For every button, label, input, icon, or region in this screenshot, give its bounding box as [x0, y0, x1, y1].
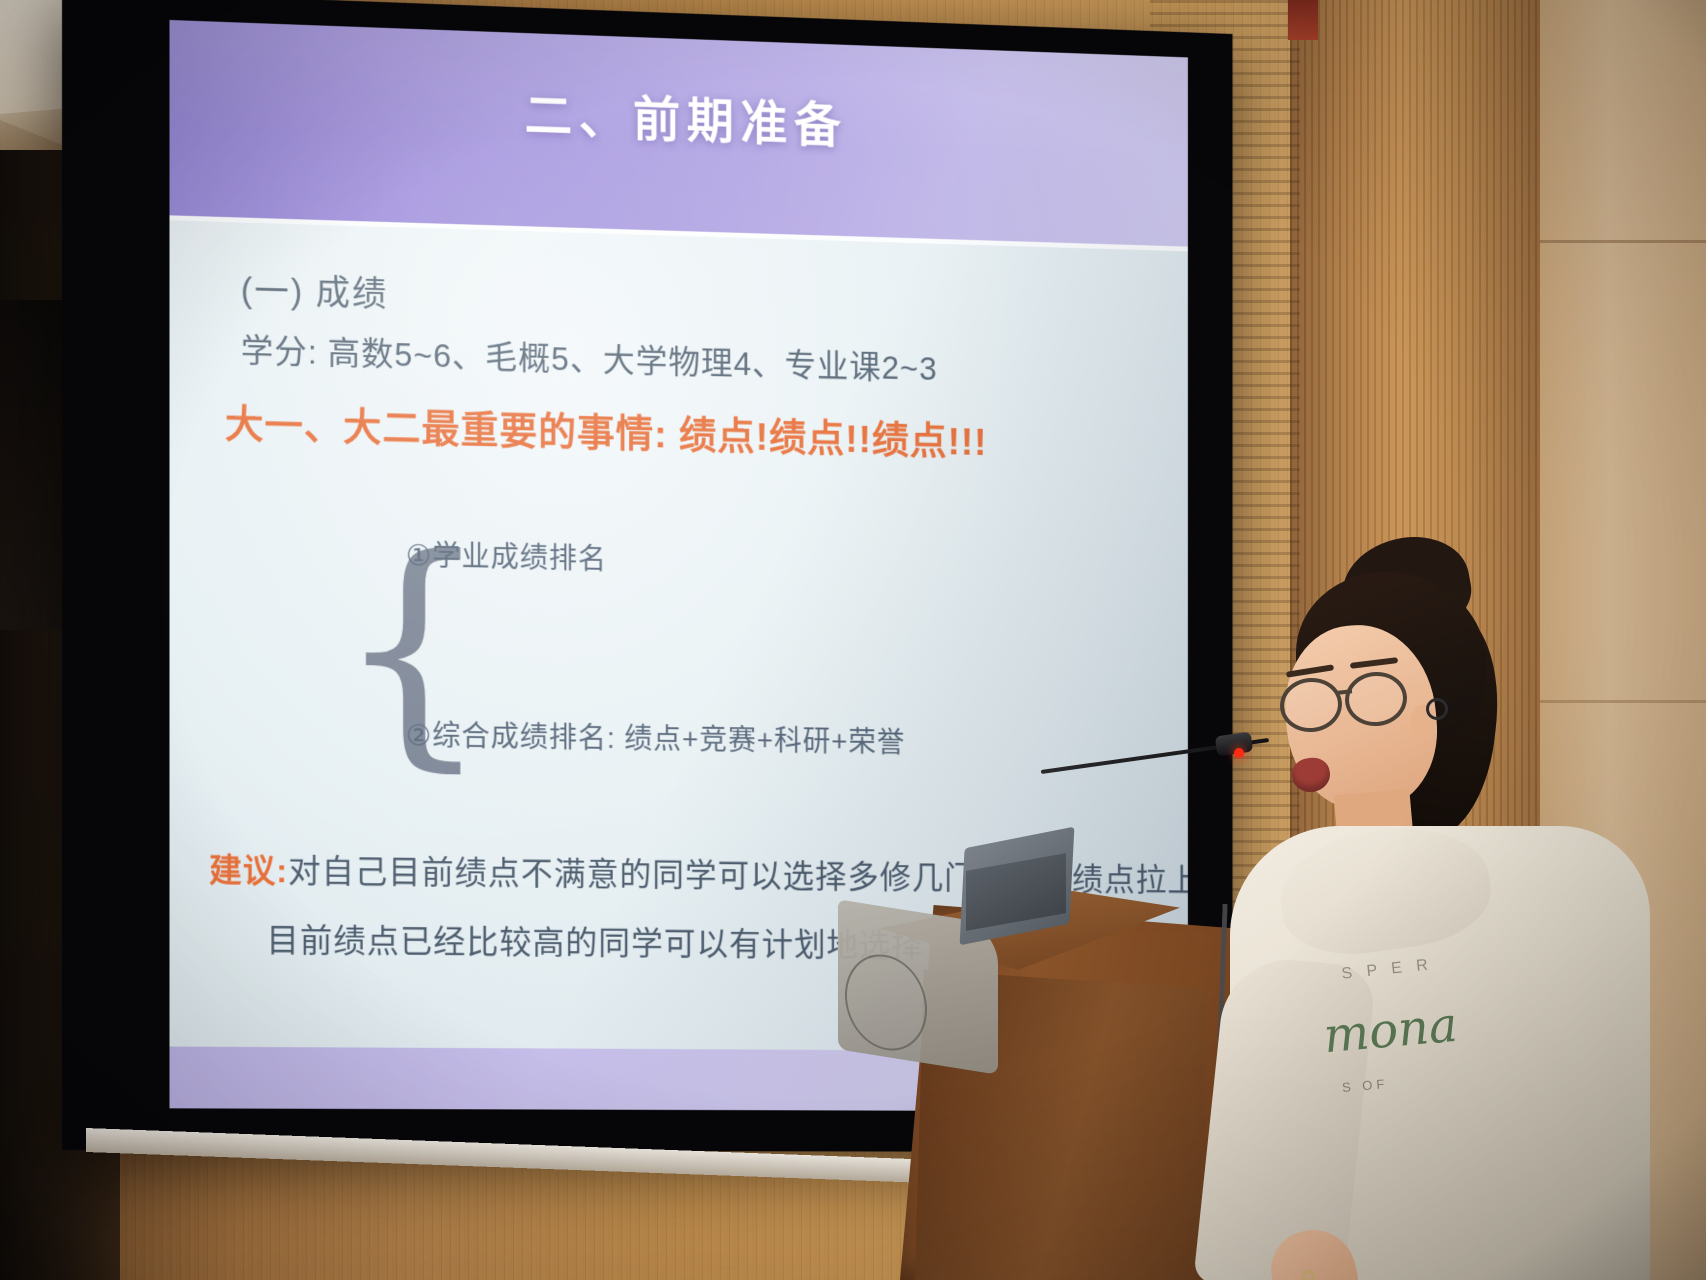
finger-ring — [1302, 1270, 1315, 1280]
earpiece-icon — [1426, 698, 1448, 720]
emphasis-line: 大一、大二最重要的事情: 绩点!绩点!!绩点!!! — [225, 393, 987, 467]
lecture-hall-scene: 二、前期准备 (一) 成绩 学分: 高数5~6、毛概5、大学物理4、专业课2~3… — [0, 0, 1706, 1280]
wall-seam — [1540, 240, 1706, 243]
ranking-item-2: ②综合成绩排名: 绩点+竞赛+科研+荣誉 — [406, 712, 905, 761]
curly-brace-icon: { — [335, 523, 392, 772]
microphone-led-indicator — [1234, 748, 1244, 758]
advice-label: 建议: — [209, 852, 288, 890]
credits-line: 学分: 高数5~6、毛概5、大学物理4、专业课2~3 — [241, 324, 938, 390]
advice-line-2: 目前绩点已经比较高的同学可以有计划地选择 — [266, 914, 923, 967]
presenter: S P E R mona S OF — [1250, 530, 1706, 1280]
section-heading: (一) 成绩 — [241, 262, 389, 317]
ranking-item-1: ①学业成绩排名 — [406, 532, 607, 578]
red-ceiling-strip — [1288, 0, 1318, 40]
